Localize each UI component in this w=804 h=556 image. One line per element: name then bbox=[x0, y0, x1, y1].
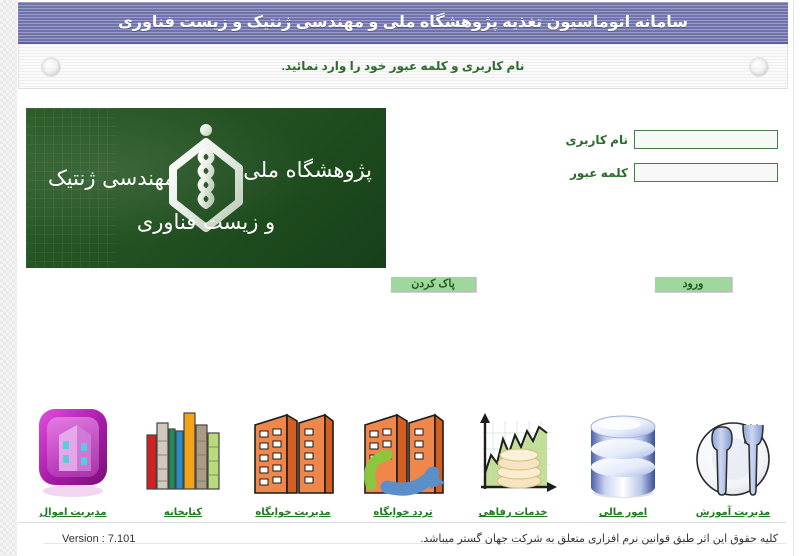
right-decorative-strip bbox=[793, 0, 804, 556]
module-item-welfare-services[interactable]: خدمات رفاهی bbox=[458, 390, 568, 518]
module-item-asset-management[interactable]: مدیریت اموال bbox=[18, 390, 128, 518]
catering-plate-icon bbox=[687, 401, 779, 505]
logo-text-line-1: پژوهشگاه ملی bbox=[243, 158, 372, 182]
login-page: سامانه اتوماسیون تغذیه پژوهشگاه ملی و مه… bbox=[0, 0, 804, 556]
application-header-bar: سامانه اتوماسیون تغذیه پژوهشگاه ملی و مه… bbox=[18, 2, 788, 44]
library-books-icon bbox=[137, 401, 229, 505]
circle-orb-icon-right bbox=[749, 57, 769, 77]
instruction-message-bar: نام کاربری و کلمه عبور خود را وارد نمائی… bbox=[18, 44, 788, 89]
clear-form-button[interactable]: پاک کردن bbox=[390, 276, 476, 292]
module-label[interactable]: مدیریت اموال bbox=[39, 507, 106, 518]
page-footer: Version : 7.101 کلیه حقوق این اثر طبق قو… bbox=[18, 522, 786, 553]
module-label[interactable]: مدیریت خوابگاه bbox=[255, 507, 330, 518]
module-label[interactable]: کتابخانه bbox=[164, 507, 202, 518]
username-row: نام کاربری bbox=[418, 130, 778, 149]
login-submit-button[interactable]: ورود bbox=[654, 276, 732, 292]
asset-management-icon bbox=[27, 401, 119, 505]
circle-orb-icon-left bbox=[41, 57, 61, 77]
module-label[interactable]: خدمات رفاهی bbox=[479, 507, 548, 518]
module-label[interactable]: تردد خوابگاه bbox=[373, 507, 432, 518]
module-item-dormitory-management[interactable]: مدیریت خوابگاه bbox=[238, 390, 348, 518]
module-item-education-management[interactable]: مدیریت آموزش bbox=[678, 390, 788, 518]
username-input[interactable] bbox=[634, 130, 778, 149]
instruction-message-text: نام کاربری و کلمه عبور خود را وارد نمائی… bbox=[282, 59, 525, 73]
username-label: نام کاربری bbox=[532, 133, 634, 147]
module-item-finance[interactable]: امور مالی bbox=[568, 390, 678, 518]
application-title: سامانه اتوماسیون تغذیه پژوهشگاه ملی و مه… bbox=[118, 12, 688, 32]
password-row: کلمه عبور bbox=[418, 163, 778, 182]
login-form: نام کاربری کلمه عبور bbox=[418, 130, 778, 196]
module-label[interactable]: امور مالی bbox=[599, 507, 647, 518]
module-label[interactable]: مدیریت آموزش bbox=[696, 507, 771, 518]
welfare-chart-coins-icon bbox=[467, 401, 559, 505]
logo-text-line-3: و زیست فناوری bbox=[26, 210, 386, 234]
institute-logo-banner: پژوهشگاه ملی مهندسی ژنتیک و زیست فناوری bbox=[26, 108, 386, 268]
logo-text-line-2: مهندسی ژنتیک bbox=[48, 166, 176, 190]
left-decorative-strip bbox=[0, 0, 17, 556]
module-item-dormitory-traffic[interactable]: تردد خوابگاه bbox=[348, 390, 458, 518]
database-finance-icon bbox=[577, 401, 669, 505]
copyright-text: کلیه حقوق این اثر طبق قوانین نرم افزاری … bbox=[420, 532, 778, 545]
module-shortcut-row: مدیریت اموال bbox=[18, 390, 788, 518]
dormitory-traffic-icon bbox=[357, 401, 449, 505]
password-label: کلمه عبور bbox=[532, 166, 634, 180]
module-item-library[interactable]: کتابخانه bbox=[128, 390, 238, 518]
dormitory-building-icon bbox=[247, 401, 339, 505]
password-input[interactable] bbox=[634, 163, 778, 182]
version-label: Version : 7.101 bbox=[62, 533, 135, 545]
